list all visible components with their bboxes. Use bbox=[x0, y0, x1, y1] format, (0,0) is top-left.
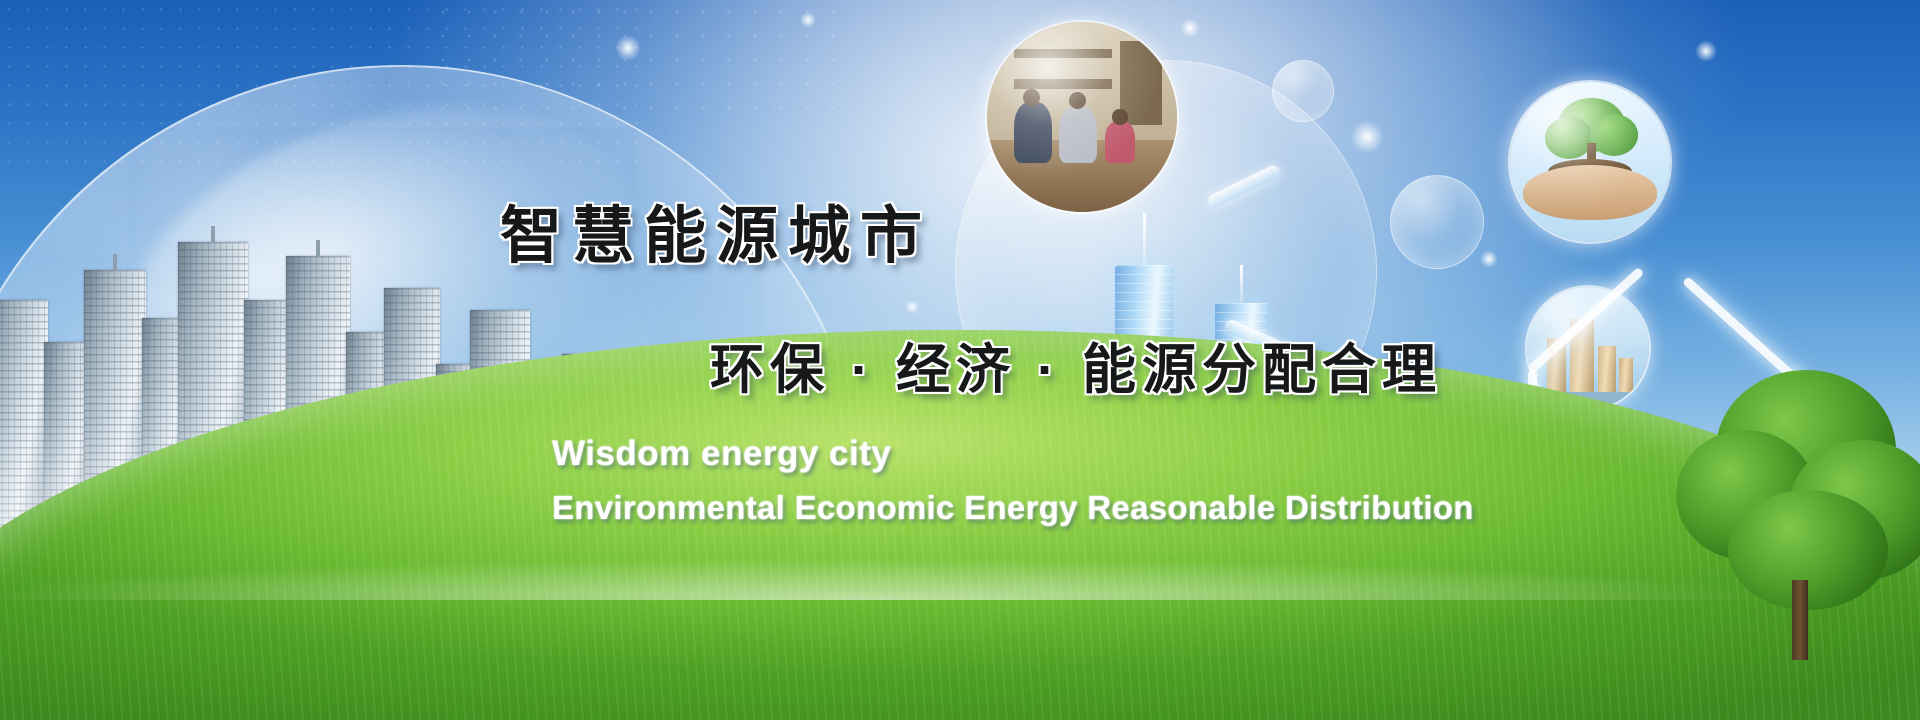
tagline-english-primary: Wisdom energy city bbox=[552, 434, 891, 474]
banner-hero: 智慧能源城市 环保 · 经济 · 能源分配合理 Wisdom energy ci… bbox=[0, 0, 1920, 720]
headline-chinese: 智慧能源城市 bbox=[500, 185, 932, 275]
subheadline-chinese: 环保 · 经济 · 能源分配合理 bbox=[710, 325, 1442, 404]
text-layer: 智慧能源城市 环保 · 经济 · 能源分配合理 Wisdom energy ci… bbox=[0, 0, 1920, 720]
tagline-english-secondary: Environmental Economic Energy Reasonable… bbox=[552, 489, 1474, 527]
